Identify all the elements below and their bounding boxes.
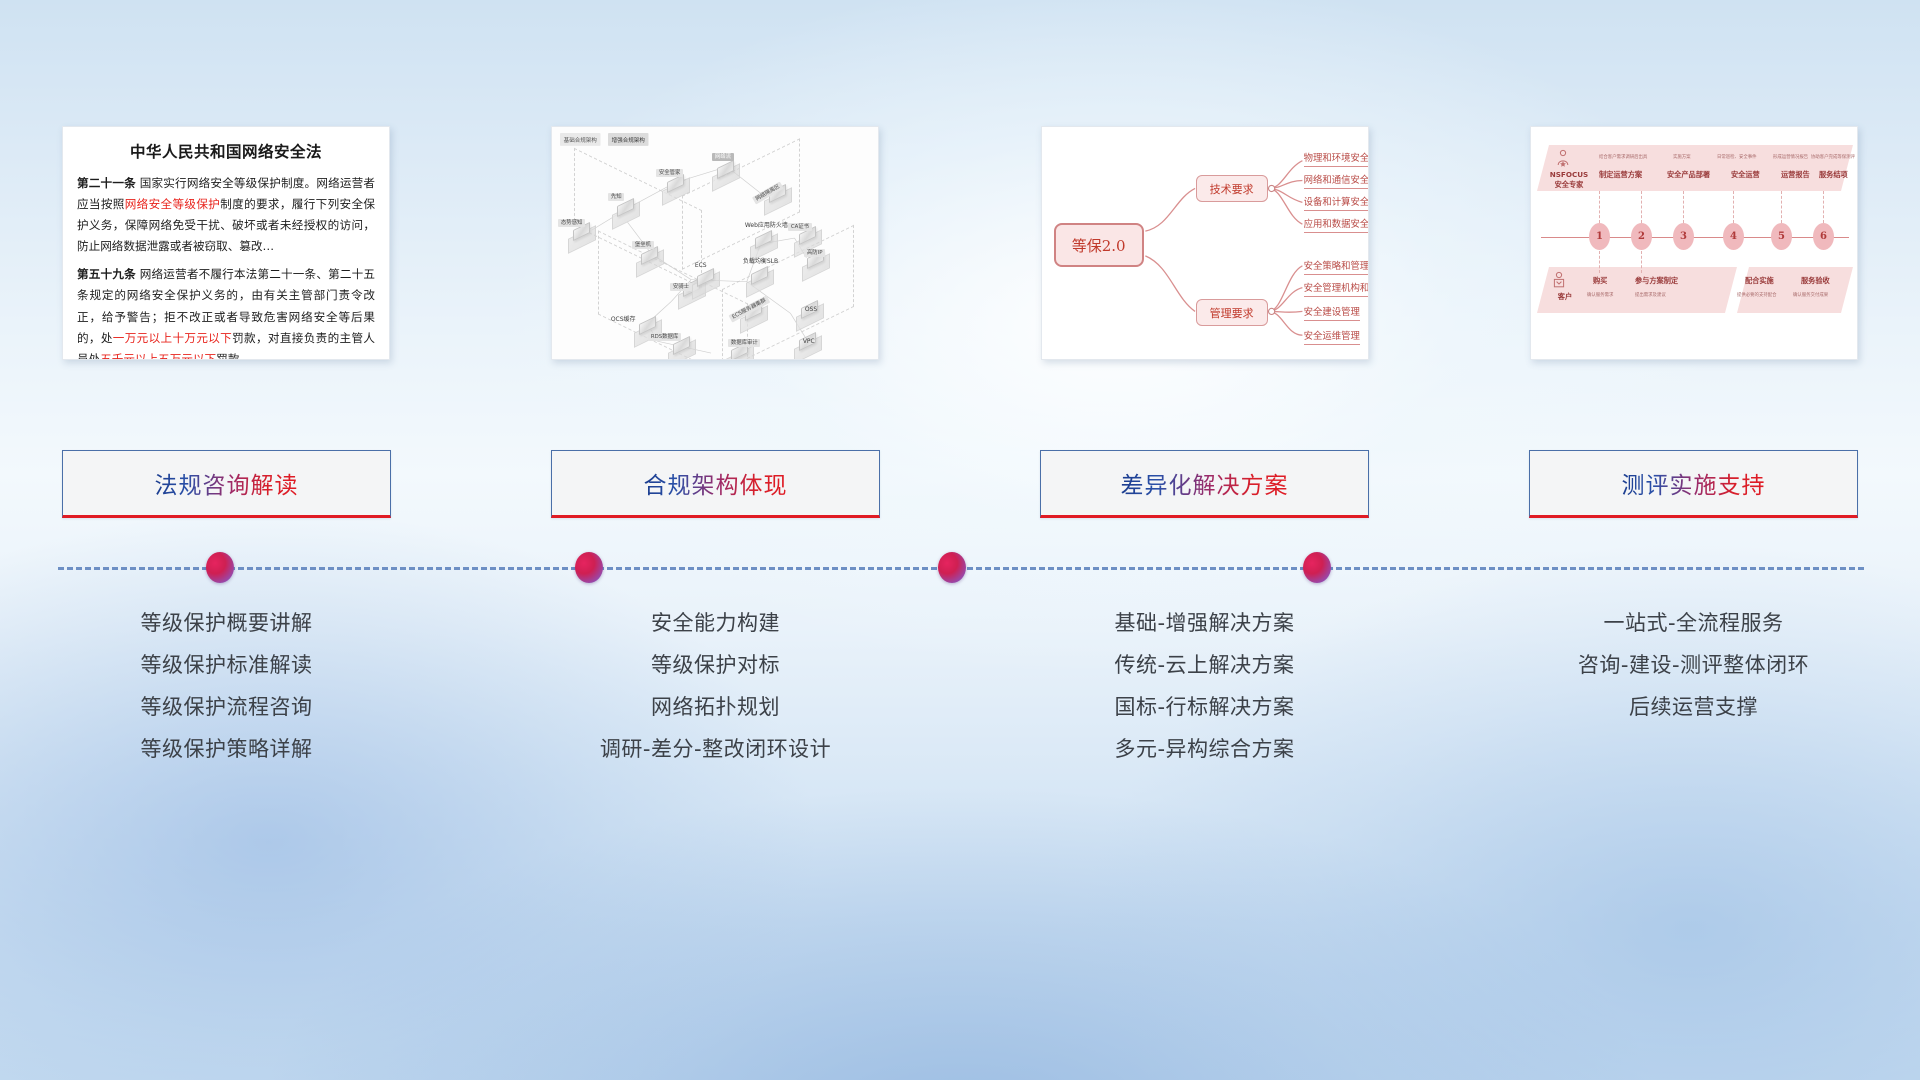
process-node-1[interactable]: 1 bbox=[1589, 223, 1610, 250]
process-bottom-label-1: 购买 bbox=[1593, 277, 1607, 285]
mindmap-leaf-operations: 安全运维管理 bbox=[1304, 331, 1360, 345]
mindmap-leaf-app-data: 应用和数据安全 bbox=[1304, 219, 1369, 233]
slide-canvas: 中华人民共和国网络安全法 第二十一条 国家实行网络安全等级保护制度。网络运营者应… bbox=[0, 0, 1920, 1080]
list-item: 传统-云上解决方案 bbox=[1114, 644, 1294, 686]
list-item: 安全能力构建 bbox=[651, 602, 780, 644]
process-axis-line bbox=[1541, 237, 1849, 238]
mindmap-collapse-tech bbox=[1268, 185, 1274, 191]
mindmap-collapse-mgmt bbox=[1268, 308, 1274, 314]
process-bottom-label-3: 配合实施 bbox=[1745, 277, 1774, 285]
node-load-balancer bbox=[748, 267, 774, 287]
list-item: 等级保护对标 bbox=[651, 644, 780, 686]
heading-label-evaluation-support: 测评实施支持 bbox=[1622, 466, 1766, 500]
label-anti-ddos-ip: 高防IP bbox=[804, 249, 825, 257]
process-tick-2 bbox=[1641, 191, 1642, 223]
process-bottom-sub-3: 提供必要的支持配合 bbox=[1737, 293, 1777, 298]
process-node-2[interactable]: 2 bbox=[1631, 223, 1652, 250]
process-brand-name: NSFOCUS bbox=[1547, 171, 1591, 179]
label-network-flow: 网络流 bbox=[712, 153, 733, 161]
process-tick-1 bbox=[1599, 191, 1600, 223]
mindmap-leaf-physical-env: 物理和环境安全 bbox=[1304, 153, 1369, 167]
label-database-audit: 数据库审计 bbox=[728, 339, 760, 347]
process-bottom-sub-2: 提出需求及建议 bbox=[1635, 293, 1666, 298]
timeline-dot-2[interactable] bbox=[575, 552, 603, 583]
law-highlight-21: 网络安全等级保护 bbox=[125, 197, 220, 211]
node-network-flow bbox=[714, 161, 740, 181]
node-bastion-host bbox=[638, 247, 664, 267]
card-dengbao-mindmap[interactable]: 等保2.0 技术要求 管理要求 物理和环境安全 网络和通信安全 设备和计算安全 … bbox=[1041, 126, 1369, 360]
list-item: 基础-增强解决方案 bbox=[1114, 602, 1294, 644]
process-top-sub-4: 形成运营情况报告 bbox=[1773, 155, 1808, 160]
mindmap-leaf-construction: 安全建设管理 bbox=[1304, 307, 1360, 321]
label-situational-awareness: 态势感知 bbox=[558, 219, 585, 227]
list-item: 后续运营支撑 bbox=[1629, 686, 1758, 728]
process-top-sub-3: 日常巡检、安全事件 bbox=[1717, 155, 1757, 160]
process-bottom-sub-1: 确认服务需求 bbox=[1587, 293, 1613, 298]
process-top-sub-5: 协助客户完成等保测评 bbox=[1811, 155, 1855, 160]
detail-column-regulation-consulting: 等级保护概要讲解 等级保护标准解读 等级保护流程咨询 等级保护策略详解 bbox=[62, 602, 391, 832]
timeline-dot-3[interactable] bbox=[938, 552, 966, 583]
process-tick-b1 bbox=[1599, 251, 1600, 273]
detail-lists-row: 等级保护概要讲解 等级保护标准解读 等级保护流程咨询 等级保护策略详解 安全能力… bbox=[62, 602, 1858, 832]
detail-column-differentiated-solution: 基础-增强解决方案 传统-云上解决方案 国标-行标解决方案 多元-异构综合方案 bbox=[1040, 602, 1369, 832]
process-tick-b2 bbox=[1641, 251, 1642, 273]
label-ca-certificate: CA证书 bbox=[788, 223, 811, 231]
heading-box-differentiated-solution[interactable]: 差异化解决方案 bbox=[1040, 450, 1369, 518]
list-item: 国标-行标解决方案 bbox=[1114, 686, 1294, 728]
list-item: 调研-差分-整改闭环设计 bbox=[600, 728, 831, 770]
process-tick-6 bbox=[1823, 191, 1824, 223]
label-rds-database: RDS数据库 bbox=[648, 333, 681, 341]
label-xianzhi: 先知 bbox=[608, 193, 624, 201]
progress-timeline bbox=[58, 566, 1864, 570]
process-bottom-sub-4: 确认服务交付成果 bbox=[1793, 293, 1828, 298]
process-top-label-5: 服务结项 bbox=[1819, 171, 1848, 179]
node-security-steward bbox=[664, 175, 690, 195]
label-security-steward: 安全管家 bbox=[656, 169, 683, 177]
mindmap-branch-technical: 技术要求 bbox=[1196, 175, 1268, 202]
heading-label-differentiated-solution: 差异化解决方案 bbox=[1121, 466, 1289, 500]
isometric-diagram: 态势感知 先知 安全管家 网络流 堡垒机 安骑士 OCS缓存 RDS数据库 数据… bbox=[552, 127, 878, 359]
process-top-label-2: 安全产品部署 bbox=[1667, 171, 1710, 179]
law-highlight-59a: 一万元以上十万元以下 bbox=[113, 331, 232, 345]
customer-person-icon bbox=[1551, 271, 1567, 289]
node-ecs bbox=[694, 269, 720, 289]
mindmap-leaf-network-comm: 网络和通信安全 bbox=[1304, 175, 1369, 189]
law-paragraph-21: 第二十一条 国家实行网络安全等级保护制度。网络运营者应当按照网络安全等级保护制度… bbox=[77, 173, 375, 257]
process-tick-4 bbox=[1733, 191, 1734, 223]
label-oss: OSS bbox=[802, 305, 819, 314]
list-item: 网络拓扑规划 bbox=[651, 686, 780, 728]
law-article-label-21: 第二十一条 bbox=[77, 176, 136, 190]
heading-label-compliance-architecture: 合规架构体现 bbox=[644, 466, 788, 500]
label-vpc: VPC bbox=[800, 337, 817, 346]
process-band-customer-2 bbox=[1737, 267, 1853, 313]
process-node-4[interactable]: 4 bbox=[1723, 223, 1744, 250]
process-bottom-label-4: 服务验收 bbox=[1801, 277, 1830, 285]
card-cybersecurity-law[interactable]: 中华人民共和国网络安全法 第二十一条 国家实行网络安全等级保护制度。网络运营者应… bbox=[62, 126, 390, 360]
list-item: 咨询-建设-测评整体闭环 bbox=[1578, 644, 1809, 686]
law-title: 中华人民共和国网络安全法 bbox=[77, 140, 375, 162]
list-item: 一站式-全流程服务 bbox=[1603, 602, 1783, 644]
label-bastion-host: 堡垒机 bbox=[632, 241, 653, 249]
process-tick-5 bbox=[1781, 191, 1782, 223]
card-compliance-architecture[interactable]: 基础合规架构 增强合规架构 bbox=[551, 126, 879, 360]
list-item: 等级保护标准解读 bbox=[141, 644, 313, 686]
list-item: 等级保护策略详解 bbox=[141, 728, 313, 770]
timeline-dot-1[interactable] bbox=[206, 552, 234, 583]
process-node-3[interactable]: 3 bbox=[1673, 223, 1694, 250]
process-top-label-1: 制定运营方案 bbox=[1599, 171, 1642, 179]
reference-image-cards: 中华人民共和国网络安全法 第二十一条 国家实行网络安全等级保护制度。网络运营者应… bbox=[62, 126, 1858, 360]
heading-box-regulation-consulting[interactable]: 法规咨询解读 bbox=[62, 450, 391, 518]
label-waf: Web应用防火墙 bbox=[742, 221, 790, 230]
mindmap-root-node: 等保2.0 bbox=[1054, 223, 1144, 267]
card-service-process[interactable]: NSFOCUS 安全专家 客户 结合客户需求调研后出具 制定运营方案 实施方案 … bbox=[1530, 126, 1858, 360]
law-paragraph-59: 第五十九条 网络运营者不履行本法第二十一条、第二十五条规定的网络安全保护义务的，… bbox=[77, 264, 375, 360]
detail-column-compliance-architecture: 安全能力构建 等级保护对标 网络拓扑规划 调研-差分-整改闭环设计 bbox=[551, 602, 880, 832]
label-agent-guard: 安骑士 bbox=[670, 283, 691, 291]
process-node-6[interactable]: 6 bbox=[1813, 223, 1834, 250]
node-waf bbox=[752, 231, 778, 251]
process-tick-3 bbox=[1683, 191, 1684, 223]
mindmap-leaf-device-compute: 设备和计算安全 bbox=[1304, 197, 1369, 211]
list-item: 等级保护流程咨询 bbox=[141, 686, 313, 728]
process-node-5[interactable]: 5 bbox=[1771, 223, 1792, 250]
list-item: 等级保护概要讲解 bbox=[141, 602, 313, 644]
mindmap-leaf-policy-system: 安全策略和管理制度 bbox=[1304, 261, 1369, 275]
process-top-label-4: 运营报告 bbox=[1781, 171, 1810, 179]
category-heading-row: 法规咨询解读 合规架构体现 差异化解决方案 测评实施支持 bbox=[62, 450, 1858, 518]
node-xianzhi bbox=[614, 199, 640, 219]
heading-label-regulation-consulting: 法规咨询解读 bbox=[155, 466, 299, 500]
label-ecs: ECS bbox=[692, 261, 709, 270]
law-highlight-59b: 五千元以上五万元以下 bbox=[100, 352, 216, 360]
mindmap-leaf-org-personnel: 安全管理机构和人员 bbox=[1304, 283, 1369, 297]
process-top-sub-2: 实施方案 bbox=[1673, 155, 1691, 160]
list-item: 多元-异构综合方案 bbox=[1114, 728, 1294, 770]
process-top-label-3: 安全运营 bbox=[1731, 171, 1760, 179]
heading-box-evaluation-support[interactable]: 测评实施支持 bbox=[1529, 450, 1858, 518]
process-top-sub-1: 结合客户需求调研后出具 bbox=[1599, 155, 1647, 160]
detail-column-evaluation-support: 一站式-全流程服务 咨询-建设-测评整体闭环 后续运营支撑 bbox=[1529, 602, 1858, 832]
heading-box-compliance-architecture[interactable]: 合规架构体现 bbox=[551, 450, 880, 518]
expert-person-icon bbox=[1555, 149, 1571, 167]
process-customer-label: 客户 bbox=[1545, 293, 1585, 301]
law-text-59c: 罚款。 bbox=[216, 352, 251, 360]
law-article-label-59: 第五十九条 bbox=[77, 267, 136, 281]
timeline-dot-4[interactable] bbox=[1303, 552, 1331, 583]
label-ocs-cache: OCS缓存 bbox=[608, 315, 638, 324]
process-bottom-label-2: 参与方案制定 bbox=[1635, 277, 1678, 285]
label-load-balancer: 负载均衡SLB bbox=[740, 257, 780, 266]
process-band-customer bbox=[1537, 267, 1737, 313]
process-brand-sub: 安全专家 bbox=[1547, 181, 1591, 189]
mindmap-branch-management: 管理要求 bbox=[1196, 299, 1268, 326]
